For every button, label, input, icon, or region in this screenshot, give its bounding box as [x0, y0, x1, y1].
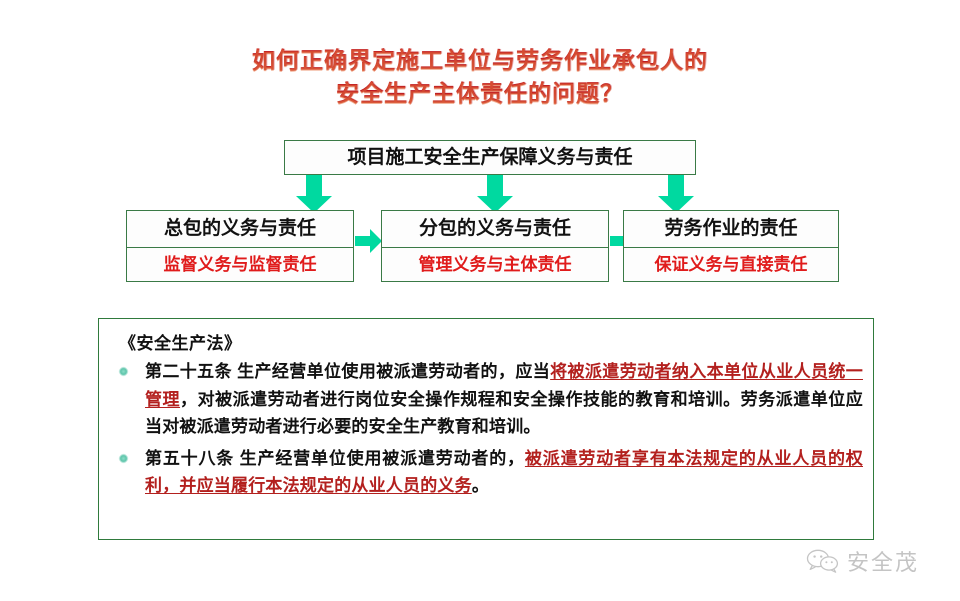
diamond-bullet-icon	[117, 365, 130, 378]
law-item: 第五十八条 生产经营单位使用被派遣劳动者的，被派遣劳动者享有本法规定的从业人员的…	[111, 445, 863, 500]
diamond-bullet-icon	[117, 452, 130, 465]
flow-node-2-title: 劳务作业的责任	[624, 211, 838, 248]
page-title-line-2: 安全生产主体责任的问题？	[0, 77, 960, 110]
flow-node-general-contractor[interactable]: 总包的义务与责任 监督义务与监督责任	[126, 210, 354, 282]
arrow-right-node-0-to-1	[355, 229, 382, 253]
flow-node-0-subtitle: 监督义务与监督责任	[127, 248, 353, 283]
flow-node-subcontractor[interactable]: 分包的义务与责任 管理义务与主体责任	[381, 210, 609, 282]
law-item-1-prefix: 第五十八条 生产经营单位使用被派遣劳动者的，	[145, 449, 525, 468]
law-panel-heading: 《安全生产法》	[119, 329, 863, 354]
wechat-bubble-icon	[806, 548, 840, 574]
watermark-label: 安全茂	[847, 545, 919, 577]
arrow-down-to-node-2	[658, 175, 694, 213]
law-item-0-suffix: ，对被派遣劳动者进行岗位安全操作规程和安全操作技能的教育和培训。劳务派遣单位应当…	[145, 390, 863, 437]
flow-node-0-title: 总包的义务与责任	[127, 211, 353, 248]
flow-node-2-subtitle: 保证义务与直接责任	[624, 248, 838, 283]
arrow-down-to-node-0	[296, 175, 332, 213]
page-title: 如何正确界定施工单位与劳务作业承包人的 安全生产主体责任的问题？	[0, 44, 960, 109]
law-item: 第二十五条 生产经营单位使用被派遣劳动者的，应当将被派遣劳动者纳入本单位从业人员…	[111, 358, 863, 441]
law-item-1-suffix: 。	[472, 476, 489, 495]
flow-node-root[interactable]: 项目施工安全生产保障义务与责任	[284, 140, 696, 175]
arrow-right-node-1-to-2	[610, 229, 637, 253]
flow-node-labor-service[interactable]: 劳务作业的责任 保证义务与直接责任	[623, 210, 839, 282]
arrow-down-to-node-1	[477, 175, 513, 213]
flow-node-1-subtitle: 管理义务与主体责任	[382, 248, 608, 283]
watermark: 安全茂	[806, 545, 919, 577]
flow-node-1-title: 分包的义务与责任	[382, 211, 608, 248]
law-panel: 《安全生产法》 第二十五条 生产经营单位使用被派遣劳动者的，应当将被派遣劳动者纳…	[98, 318, 874, 540]
page-title-line-1: 如何正确界定施工单位与劳务作业承包人的	[0, 44, 960, 77]
law-item-0-prefix: 第二十五条 生产经营单位使用被派遣劳动者的，应当	[145, 362, 550, 381]
flow-node-root-label: 项目施工安全生产保障义务与责任	[347, 147, 632, 168]
